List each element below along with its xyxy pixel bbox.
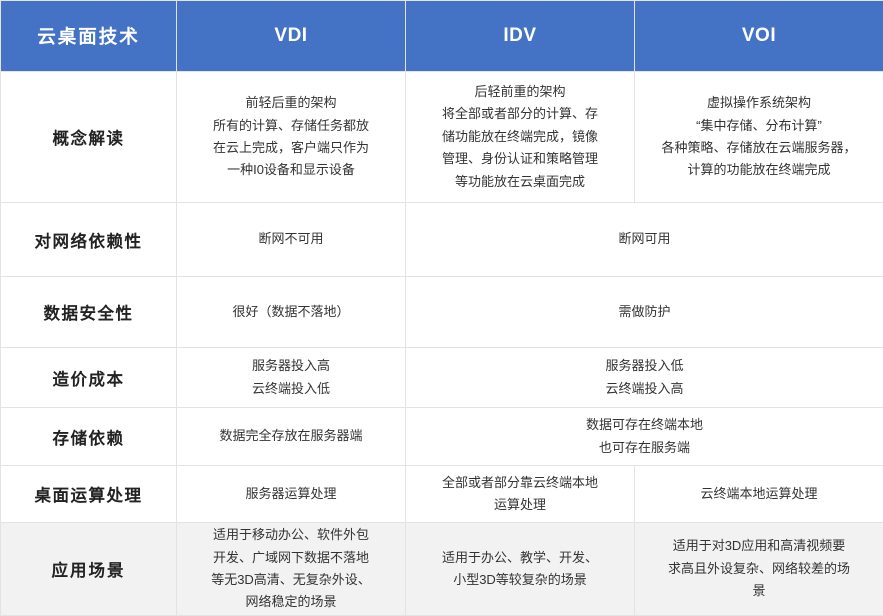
cell-security-vdi: 很好（数据不落地） <box>177 277 406 348</box>
cell-network-vdi: 断网不可用 <box>177 203 406 277</box>
cloud-desktop-comparison-table: 云桌面技术 VDI IDV VOI 概念解读 前轻后重的架构 所有的计算、存储任… <box>0 0 883 616</box>
cell-text: 虚拟操作系统架构 “集中存储、分布计算” 各种策略、存储放在云端服务器， 计算的… <box>635 92 883 181</box>
cell-cost-vdi: 服务器投入高 云终端投入低 <box>177 348 406 408</box>
cell-scenario-idv: 适用于办公、教学、开发、 小型3D等较复杂的场景 <box>406 523 635 616</box>
cell-text: 断网不可用 <box>177 228 405 250</box>
cell-storage-idv-voi: 数据可存在终端本地 也可存在服务端 <box>406 408 883 466</box>
row-label-data-security: 数据安全性 <box>1 277 177 348</box>
table-row: 应用场景 适用于移动办公、软件外包 开发、广域网下数据不落地 等无3D高清、无复… <box>1 523 883 616</box>
table-row: 对网络依赖性 断网不可用 断网可用 <box>1 203 883 277</box>
cell-text: 云终端本地运算处理 <box>635 483 883 505</box>
cell-text: 很好（数据不落地） <box>177 301 405 323</box>
cell-text: 数据完全存放在服务器端 <box>177 425 405 447</box>
cell-compute-voi: 云终端本地运算处理 <box>635 466 883 523</box>
header-cell-voi: VOI <box>635 1 883 72</box>
cell-text: 全部或者部分靠云终端本地 运算处理 <box>406 472 634 517</box>
cell-text: 服务器投入低 云终端投入高 <box>406 355 883 400</box>
cell-text: 服务器投入高 云终端投入低 <box>177 355 405 400</box>
cell-compute-vdi: 服务器运算处理 <box>177 466 406 523</box>
cell-text: 数据可存在终端本地 也可存在服务端 <box>406 414 883 459</box>
header-row: 云桌面技术 VDI IDV VOI <box>1 1 883 72</box>
cell-security-idv-voi: 需做防护 <box>406 277 883 348</box>
cell-text: 适用于移动办公、软件外包 开发、广域网下数据不落地 等无3D高清、无复杂外设、 … <box>177 524 405 613</box>
cell-concept-idv: 后轻前重的架构 将全部或者部分的计算、存 储功能放在终端完成，镜像 管理、身份认… <box>406 72 635 203</box>
cell-concept-vdi: 前轻后重的架构 所有的计算、存储任务都放 在云上完成，客户端只作为 一种I0设备… <box>177 72 406 203</box>
cell-text: 前轻后重的架构 所有的计算、存储任务都放 在云上完成，客户端只作为 一种I0设备… <box>177 92 405 181</box>
header-cell-technology: 云桌面技术 <box>1 1 177 72</box>
cell-text: 断网可用 <box>406 228 883 250</box>
table-row: 概念解读 前轻后重的架构 所有的计算、存储任务都放 在云上完成，客户端只作为 一… <box>1 72 883 203</box>
cell-text: 适用于办公、教学、开发、 小型3D等较复杂的场景 <box>406 547 634 592</box>
cell-text: 适用于对3D应用和高清视频要 求高且外设复杂、网络较差的场 景 <box>635 535 883 602</box>
row-label-desktop-computing: 桌面运算处理 <box>1 466 177 523</box>
cell-compute-idv: 全部或者部分靠云终端本地 运算处理 <box>406 466 635 523</box>
row-label-storage-dependency: 存储依赖 <box>1 408 177 466</box>
cell-text: 需做防护 <box>406 301 883 323</box>
row-label-application-scenario: 应用场景 <box>1 523 177 616</box>
table-row: 存储依赖 数据完全存放在服务器端 数据可存在终端本地 也可存在服务端 <box>1 408 883 466</box>
header-cell-idv: IDV <box>406 1 635 72</box>
cell-concept-voi: 虚拟操作系统架构 “集中存储、分布计算” 各种策略、存储放在云端服务器， 计算的… <box>635 72 883 203</box>
cell-network-idv-voi: 断网可用 <box>406 203 883 277</box>
cell-cost-idv-voi: 服务器投入低 云终端投入高 <box>406 348 883 408</box>
row-label-cost: 造价成本 <box>1 348 177 408</box>
table-row: 数据安全性 很好（数据不落地） 需做防护 <box>1 277 883 348</box>
header-cell-vdi: VDI <box>177 1 406 72</box>
row-label-concept: 概念解读 <box>1 72 177 203</box>
table-header: 云桌面技术 VDI IDV VOI <box>1 1 883 72</box>
row-label-network-dependency: 对网络依赖性 <box>1 203 177 277</box>
table-body: 概念解读 前轻后重的架构 所有的计算、存储任务都放 在云上完成，客户端只作为 一… <box>1 72 883 616</box>
cell-scenario-voi: 适用于对3D应用和高清视频要 求高且外设复杂、网络较差的场 景 <box>635 523 883 616</box>
table-row: 造价成本 服务器投入高 云终端投入低 服务器投入低 云终端投入高 <box>1 348 883 408</box>
table-row: 桌面运算处理 服务器运算处理 全部或者部分靠云终端本地 运算处理 云终端本地运算… <box>1 466 883 523</box>
cell-text: 后轻前重的架构 将全部或者部分的计算、存 储功能放在终端完成，镜像 管理、身份认… <box>406 81 634 193</box>
cell-text: 服务器运算处理 <box>177 483 405 505</box>
cell-scenario-vdi: 适用于移动办公、软件外包 开发、广域网下数据不落地 等无3D高清、无复杂外设、 … <box>177 523 406 616</box>
cell-storage-vdi: 数据完全存放在服务器端 <box>177 408 406 466</box>
